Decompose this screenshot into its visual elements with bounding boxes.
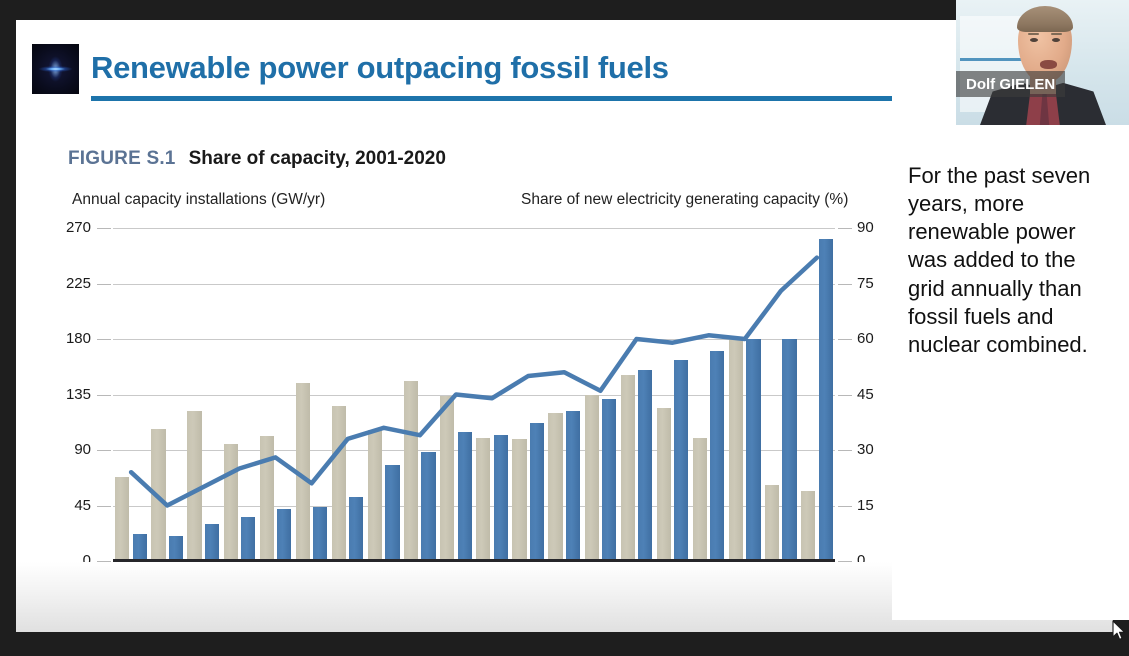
participant-name: Dolf GIELEN [966,76,1055,93]
legend-item-renewable-share: Renewable share (%) [689,603,864,619]
right-axis-tick-mark [838,561,852,562]
left-axis-header: Annual capacity installations (GW/yr) [72,191,325,209]
x-axis-tick-label: 2003 [173,568,233,585]
right-axis-header: Share of new electricity generating capa… [521,191,848,209]
legend-label-renewable-share: Renewable share (%) [725,603,864,619]
left-axis-tick-mark [97,395,111,396]
left-axis-tick-mark [97,228,111,229]
x-axis-tick-label: 2009 [390,568,450,585]
left-axis-tick-mark [97,284,111,285]
right-axis-tick-label: 0 [857,552,893,569]
left-axis-tick-label: 0 [55,552,91,569]
computer-screen: Renewable power outpacing fossil fuels F… [0,0,1129,656]
webcam-name-bar: Dolf GIELEN [956,71,1065,97]
legend-item-renewables: New capacity renewables (GW) [327,603,466,632]
legend-label-renewables: New capacity renewables (GW) [353,603,466,632]
chart-plot-area [113,228,835,561]
x-axis-tick-label: 2015 [606,568,666,585]
video-participant-icon [978,0,1108,125]
right-axis-tick-label: 45 [857,386,893,403]
left-axis-tick-label: 45 [55,497,91,514]
right-axis-tick-mark [838,228,852,229]
left-axis-tick-label: 270 [55,219,91,236]
right-axis-tick-mark [838,506,852,507]
mouse-pointer-icon [1112,620,1126,642]
slide-page-number: 5 [1101,626,1109,632]
left-axis-tick-mark [97,506,111,507]
x-axis-tick-label: 2017 [679,568,739,585]
x-axis-tick-label: 2020 [787,568,847,585]
right-axis-tick-mark [838,339,852,340]
right-axis-tick-mark [838,450,852,451]
left-axis-tick-label: 180 [55,330,91,347]
chart-baseline [113,559,835,563]
right-axis-tick-label: 90 [857,219,893,236]
right-axis-tick-label: 30 [857,441,893,458]
legend-swatch-renewable-share [689,611,714,616]
legend-swatch-renewables [327,606,342,621]
legend-label-non-renewables: New capacity non-renewables (GW) [150,603,292,632]
page-title: Renewable power outpacing fossil fuels [91,50,669,86]
right-axis-tick-mark [838,395,852,396]
renewable-share-line [113,228,835,561]
figure-caption: FIGURE S.1Share of capacity, 2001-2020 [68,148,446,170]
right-axis-tick-label: 75 [857,275,893,292]
left-axis-tick-label: 135 [55,386,91,403]
right-axis-tick-label: 15 [857,497,893,514]
x-axis-tick-label: 2007 [318,568,378,585]
left-axis-tick-label: 90 [55,441,91,458]
legend-swatch-non-renewables [124,606,139,621]
starburst-logo-icon [32,44,79,94]
left-axis-tick-mark [97,450,111,451]
legend-item-non-renewables: New capacity non-renewables (GW) [124,603,292,632]
commentary-text: For the past seven years, more renewable… [908,162,1108,359]
x-axis-tick-label: 2011 [462,568,522,585]
left-axis-tick-mark [97,561,111,562]
right-axis-tick-label: 60 [857,330,893,347]
x-axis-tick-label: 2005 [245,568,305,585]
chart-legend: New capacity non-renewables (GW) New cap… [124,603,884,632]
x-axis-tick-label: 2013 [534,568,594,585]
figure-label: FIGURE S.1 [68,148,176,169]
left-axis-tick-mark [97,339,111,340]
webcam-video-tile[interactable]: Dolf GIELEN [956,0,1129,125]
figure-title: Share of capacity, 2001-2020 [189,148,446,169]
right-axis-tick-mark [838,284,852,285]
left-axis-tick-label: 225 [55,275,91,292]
x-axis-tick-label: 2001 [101,568,161,585]
